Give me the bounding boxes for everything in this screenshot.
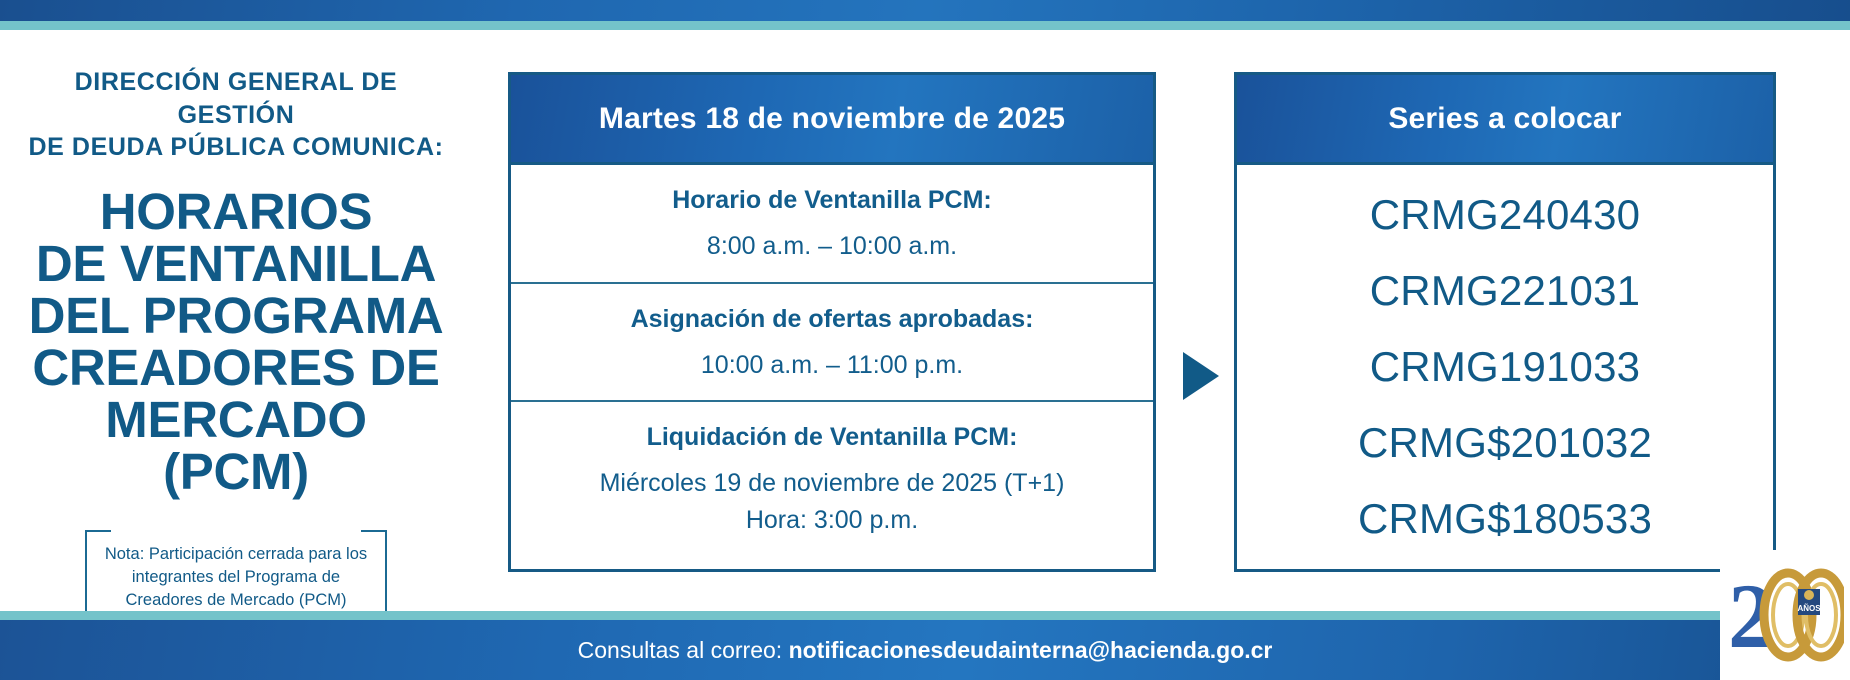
main-canvas: DIRECCIÓN GENERAL DE GESTIÓN DE DEUDA PÚ… — [0, 30, 1850, 620]
series-card-title: Series a colocar — [1388, 102, 1621, 136]
page-title-line-5: MERCADO (PCM) — [26, 394, 446, 498]
page-title-line-2: DE VENTANILLA — [26, 238, 446, 290]
page-title-line-4: CREADORES DE — [26, 342, 446, 394]
footer-teal-accent-bar — [0, 611, 1850, 620]
left-info-column: DIRECCIÓN GENERAL DE GESTIÓN DE DEUDA PÚ… — [26, 30, 446, 671]
schedule-card-title: Martes 18 de noviembre de 2025 — [599, 102, 1065, 136]
footer-contact-text: Consultas al correo: notificacionesdeuda… — [578, 637, 1273, 664]
series-card: Series a colocar CRMG240430 CRMG221031 C… — [1234, 72, 1776, 572]
series-card-header: Series a colocar — [1237, 75, 1773, 165]
page-title-line-3: DEL PROGRAMA — [26, 290, 446, 342]
schedule-section-label: Liquidación de Ventanilla PCM: — [531, 421, 1133, 453]
department-heading-line-1: DIRECCIÓN GENERAL DE GESTIÓN — [26, 66, 446, 131]
schedule-section-ventanilla: Horario de Ventanilla PCM: 8:00 a.m. – 1… — [511, 165, 1153, 282]
note-corner-top-right — [361, 530, 387, 556]
department-heading-line-2: DE DEUDA PÚBLICA COMUNICA: — [26, 131, 446, 164]
schedule-section-label: Horario de Ventanilla PCM: — [531, 184, 1133, 216]
list-item: CRMG191033 — [1237, 346, 1773, 388]
list-item: CRMG$180533 — [1237, 498, 1773, 540]
schedule-section-liquidacion: Liquidación de Ventanilla PCM: Miércoles… — [511, 400, 1153, 555]
note-corner-top-left — [85, 530, 111, 556]
schedule-card: Martes 18 de noviembre de 2025 Horario d… — [508, 72, 1156, 572]
schedule-section-label: Asignación de ofertas aprobadas: — [531, 303, 1133, 335]
top-teal-accent-bar — [0, 21, 1850, 30]
list-item: CRMG$201032 — [1237, 422, 1773, 464]
list-item: CRMG240430 — [1237, 194, 1773, 236]
list-item: CRMG221031 — [1237, 270, 1773, 312]
series-list: CRMG240430 CRMG221031 CRMG191033 CRMG$20… — [1237, 165, 1773, 569]
department-heading: DIRECCIÓN GENERAL DE GESTIÓN DE DEUDA PÚ… — [26, 66, 446, 164]
footer-contact-email[interactable]: notificacionesdeudainterna@hacienda.go.c… — [789, 637, 1273, 663]
footer-bar: Consultas al correo: notificacionesdeuda… — [0, 620, 1850, 680]
200-anos-logo-icon: 2 AÑOS — [1726, 559, 1844, 671]
footer-contact-prefix: Consultas al correo: — [578, 637, 789, 663]
logo-caption: AÑOS — [1797, 604, 1821, 613]
schedule-section-value: 8:00 a.m. – 10:00 a.m. — [531, 230, 1133, 263]
page-title-line-1: HORARIOS — [26, 186, 446, 238]
schedule-section-value-line-1: Miércoles 19 de noviembre de 2025 (T+1) — [531, 467, 1133, 500]
top-gradient-bar — [0, 0, 1850, 21]
schedule-section-value: 10:00 a.m. – 11:00 p.m. — [531, 349, 1133, 382]
page-title: HORARIOS DE VENTANILLA DEL PROGRAMA CREA… — [26, 186, 446, 498]
schedule-card-header: Martes 18 de noviembre de 2025 — [511, 75, 1153, 165]
triangle-right-icon — [1183, 352, 1219, 400]
schedule-section-asignacion: Asignación de ofertas aprobadas: 10:00 a… — [511, 282, 1153, 401]
schedule-section-value-line-2: Hora: 3:00 p.m. — [531, 504, 1133, 537]
200-anos-logo: 2 AÑOS — [1720, 550, 1850, 680]
